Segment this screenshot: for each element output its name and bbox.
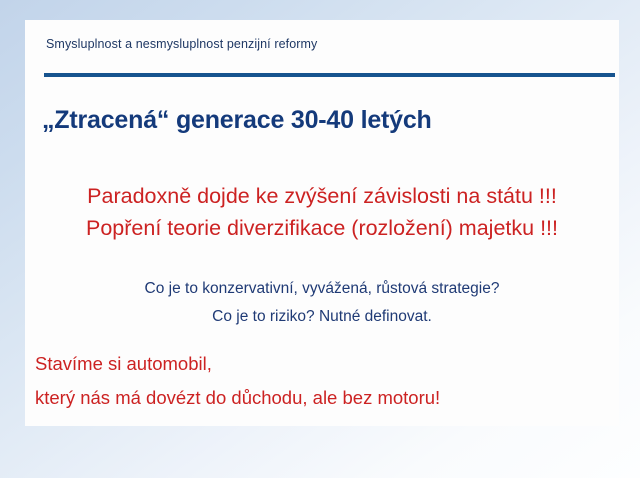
presentation-background: Smysluplnost a nesmysluplnost penzijní r… <box>0 0 640 478</box>
slide-canvas: Smysluplnost a nesmysluplnost penzijní r… <box>25 20 619 426</box>
header-divider-rule <box>44 73 615 77</box>
closing-line-2: který nás má dovézt do důchodu, ale bez … <box>35 387 610 409</box>
emphasis-line-2: Popření teorie diverzifikace (rozložení)… <box>25 216 619 241</box>
question-line-1: Co je to konzervativní, vyvážená, růstov… <box>25 280 619 298</box>
slide-header-title: Smysluplnost a nesmysluplnost penzijní r… <box>46 37 586 51</box>
emphasis-line-1: Paradoxně dojde ke zvýšení závislosti na… <box>25 184 619 209</box>
page-title: „Ztracená“ generace 30-40 letých <box>42 106 602 135</box>
closing-line-1: Stavíme si automobil, <box>35 353 610 375</box>
question-line-2: Co je to riziko? Nutné definovat. <box>25 308 619 326</box>
